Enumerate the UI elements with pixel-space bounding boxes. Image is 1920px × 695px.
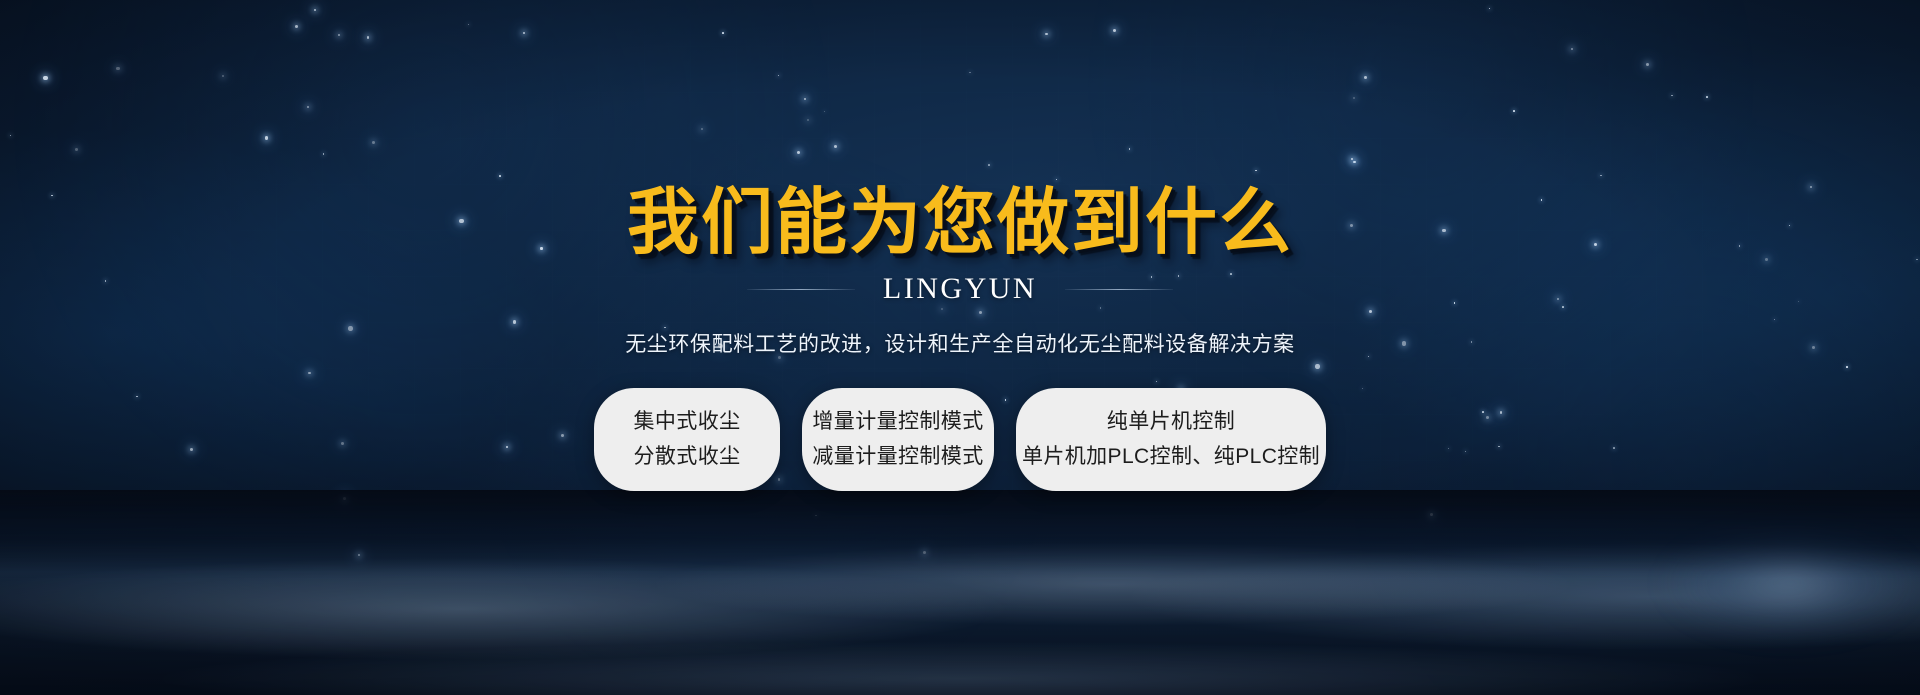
card-line: 增量计量控制模式 [812,410,983,434]
rule-left-decoration [747,289,855,290]
hero-banner: 我们能为您做到什么 LINGYUN 无尘环保配料工艺的改进，设计和生产全自动化无… [0,0,1920,695]
card-line: 减量计量控制模式 [812,445,983,469]
rule-right-decoration [1065,289,1173,290]
page-title: 我们能为您做到什么 [0,186,1920,258]
brand-name: LINGYUN [883,272,1037,306]
banner-content: 我们能为您做到什么 LINGYUN 无尘环保配料工艺的改进，设计和生产全自动化无… [0,0,1920,491]
card-line: 纯单片机控制 [1107,410,1235,434]
brand-row: LINGYUN [0,272,1920,306]
card-line: 集中式收尘 [634,410,741,434]
feature-card-list: 集中式收尘 分散式收尘 增量计量控制模式 减量计量控制模式 纯单片机控制 单片机… [0,388,1920,491]
digital-wave-floor [0,490,1920,695]
card-line: 分散式收尘 [634,445,741,469]
card-line: 单片机加PLC控制、纯PLC控制 [1022,445,1320,469]
feature-card-dust-collection[interactable]: 集中式收尘 分散式收尘 [594,388,780,491]
feature-card-controller-type[interactable]: 纯单片机控制 单片机加PLC控制、纯PLC控制 [1016,388,1326,491]
banner-description: 无尘环保配料工艺的改进，设计和生产全自动化无尘配料设备解决方案 [0,328,1920,358]
feature-card-metering-control-mode[interactable]: 增量计量控制模式 减量计量控制模式 [802,388,994,491]
floor-top-fade [0,490,1920,578]
